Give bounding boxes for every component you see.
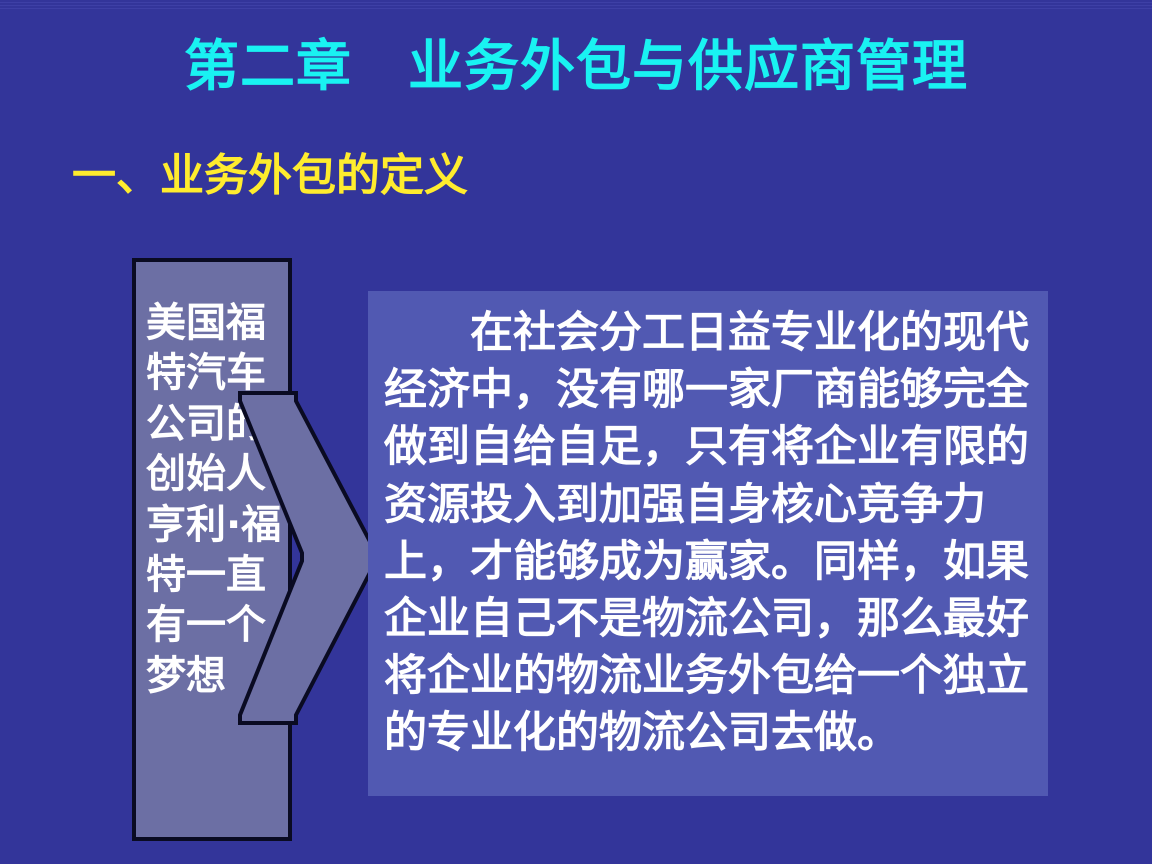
top-hairline-1 <box>0 2 1152 3</box>
slide-title: 第二章 业务外包与供应商管理 <box>0 36 1152 97</box>
top-hairline-2 <box>0 5 1152 6</box>
top-hairline-3 <box>0 8 1152 9</box>
right-paragraph-box: 在社会分工日益专业化的现代经济中，没有哪一家厂商能够完全做到自给自足，只有将企业… <box>368 291 1048 796</box>
slide-subtitle: 一、业务外包的定义 <box>72 152 468 200</box>
right-arrow-icon <box>236 390 386 726</box>
right-paragraph-text: 在社会分工日益专业化的现代经济中，没有哪一家厂商能够完全做到自给自足，只有将企业… <box>384 305 1032 763</box>
slide-canvas: 第二章 业务外包与供应商管理 一、业务外包的定义 美国福特汽车公司的创始人亨利·… <box>0 0 1152 864</box>
